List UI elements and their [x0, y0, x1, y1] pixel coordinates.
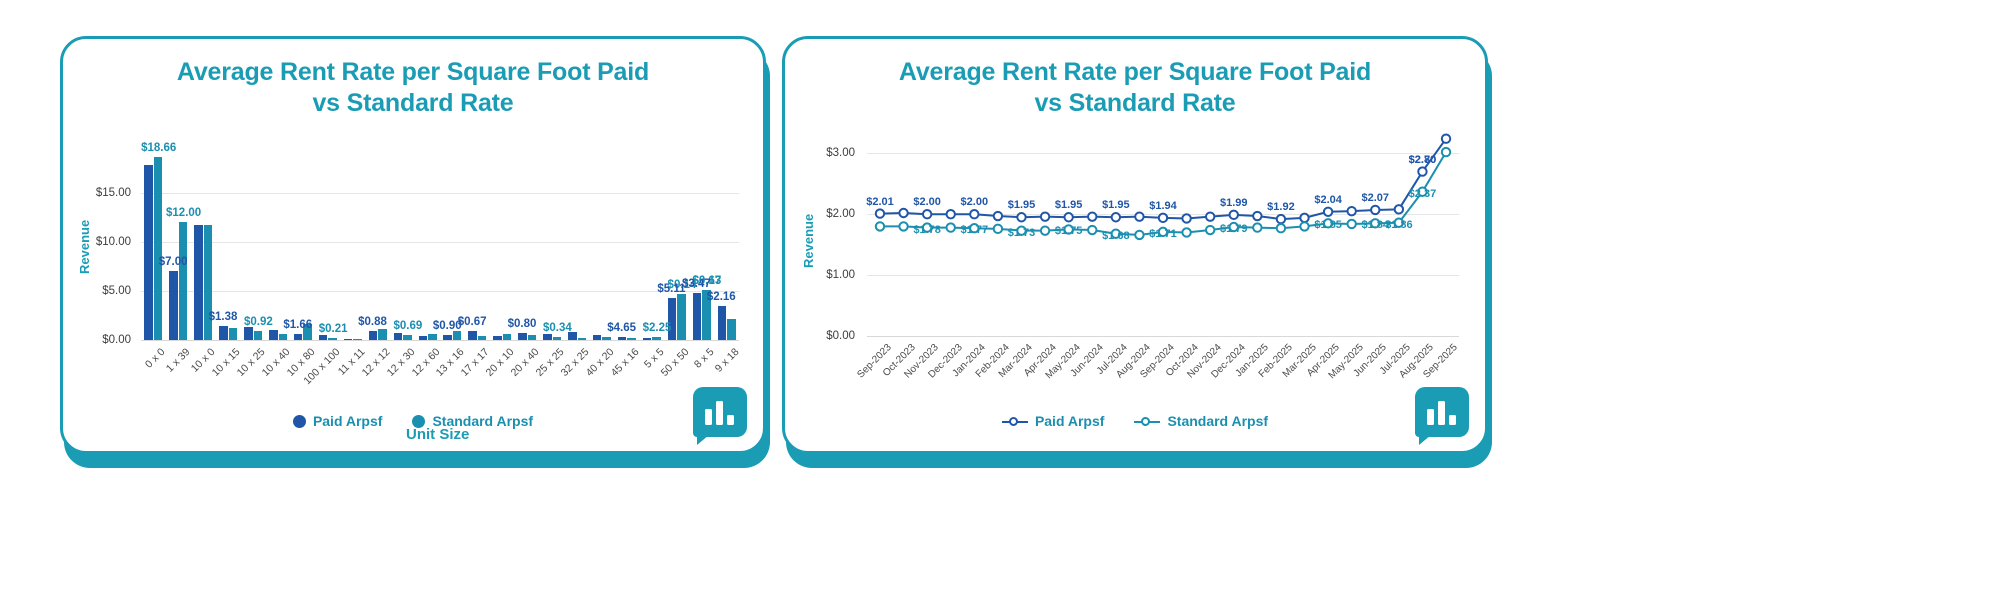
line-value-label: $2.00 — [961, 196, 989, 208]
line-point-paid[interactable] — [1230, 211, 1238, 219]
bar-standard[interactable] — [727, 319, 735, 340]
bar-standard[interactable] — [328, 338, 336, 340]
line-point-standard[interactable] — [1442, 148, 1450, 156]
line-point-paid[interactable] — [899, 209, 907, 217]
bar-chart-title-line2: vs Standard Rate — [63, 88, 763, 119]
legend-label-paid: Paid Arpsf — [313, 413, 383, 429]
bar-standard[interactable] — [353, 339, 361, 340]
bar-standard[interactable] — [229, 328, 237, 340]
line-point-paid[interactable] — [876, 209, 884, 217]
line-value-label: $1.95 — [1102, 199, 1130, 211]
line-value-label: $2.07 — [1362, 192, 1390, 204]
line-point-standard[interactable] — [994, 225, 1002, 233]
bar-paid[interactable] — [169, 271, 177, 340]
bar-standard[interactable] — [528, 335, 536, 340]
legend-line-standard-icon — [1134, 415, 1160, 428]
bar-paid[interactable] — [493, 336, 501, 340]
bar-paid[interactable] — [219, 326, 227, 340]
bar-paid[interactable] — [194, 225, 202, 340]
bar-value-label: $1.38 — [209, 311, 238, 323]
bar-standard[interactable] — [578, 338, 586, 340]
line-value-label: $1.75 — [1055, 225, 1083, 237]
line-value-label: $1.86 — [1385, 219, 1413, 231]
bar-value-label: $0.67 — [458, 316, 487, 328]
line-point-standard[interactable] — [1182, 228, 1190, 236]
line-chart-legend: Paid Arpsf Standard Arpsf — [785, 413, 1485, 429]
line-value-label: $1.68 — [1102, 230, 1130, 242]
legend-label-paid: Paid Arpsf — [1035, 413, 1105, 429]
legend-line-paid-icon — [1002, 415, 1028, 428]
legend-dot-standard-icon — [412, 415, 425, 428]
bar-chart-title-line1: Average Rent Rate per Square Foot Paid — [63, 57, 763, 88]
bar-value-label: $0.92 — [244, 316, 273, 328]
line-value-label: $2.01 — [866, 196, 894, 208]
line-point-standard[interactable] — [1206, 226, 1214, 234]
bar-gridline — [141, 242, 739, 243]
bar-standard[interactable] — [179, 222, 187, 340]
line-point-standard[interactable] — [947, 223, 955, 231]
bar-standard[interactable] — [378, 329, 386, 340]
line-point-paid[interactable] — [1088, 212, 1096, 220]
bar-plot-area: Revenue Unit Size $0.00$5.00$10.00$15.00… — [63, 118, 763, 448]
bar-paid[interactable] — [443, 335, 451, 340]
line-plot-area: Revenue $0.00$1.00$2.00$3.00$2.01$2.00$2… — [785, 118, 1485, 448]
bar-standard[interactable] — [627, 338, 635, 340]
bar-y-tick-label: $10.00 — [63, 236, 131, 248]
line-value-label: $2.80 — [1409, 154, 1437, 166]
line-point-paid[interactable] — [1347, 207, 1355, 215]
line-point-paid[interactable] — [1182, 214, 1190, 222]
bar-chart-legend: Paid Arpsf Standard Arpsf — [63, 413, 763, 429]
legend-dot-paid-icon — [293, 415, 306, 428]
line-chart-title-line1: Average Rent Rate per Square Foot Paid — [785, 57, 1485, 88]
line-point-paid[interactable] — [970, 210, 978, 218]
line-value-label: $1.73 — [1008, 227, 1036, 239]
bar-value-label: $0.21 — [319, 323, 348, 335]
line-value-label: $1.71 — [1149, 228, 1177, 240]
line-point-standard[interactable] — [1300, 222, 1308, 230]
bar-paid[interactable] — [643, 338, 651, 340]
bar-gridline — [141, 193, 739, 194]
bar-value-label: $18.66 — [141, 142, 176, 154]
bar-value-label: $4.65 — [607, 322, 636, 334]
bar-paid[interactable] — [144, 165, 152, 340]
bar-standard[interactable] — [154, 157, 162, 340]
screenshot-root: Average Rent Rate per Square Foot Paid v… — [0, 0, 2000, 593]
line-value-label: $2.04 — [1314, 194, 1342, 206]
bar-standard[interactable] — [453, 331, 461, 340]
bar-standard[interactable] — [254, 331, 262, 340]
bar-standard[interactable] — [478, 336, 486, 340]
bar-standard[interactable] — [553, 337, 561, 340]
line-point-paid[interactable] — [1135, 212, 1143, 220]
bar-standard[interactable] — [503, 334, 511, 340]
legend-item-paid[interactable]: Paid Arpsf — [293, 413, 383, 429]
line-point-paid[interactable] — [1277, 215, 1285, 223]
line-point-paid[interactable] — [1300, 214, 1308, 222]
line-point-paid[interactable] — [947, 210, 955, 218]
line-point-paid[interactable] — [1206, 212, 1214, 220]
line-value-label: $1.85 — [1314, 219, 1342, 231]
line-point-paid[interactable] — [1159, 214, 1167, 222]
line-point-paid[interactable] — [1371, 206, 1379, 214]
bar-paid[interactable] — [593, 335, 601, 340]
bar-value-label: $0.69 — [393, 320, 422, 332]
bar-paid[interactable] — [269, 330, 277, 340]
bar-paid[interactable] — [369, 331, 377, 340]
line-point-standard[interactable] — [1041, 226, 1049, 234]
line-point-standard[interactable] — [1253, 223, 1261, 231]
bar-value-label: $2.25 — [643, 322, 672, 334]
line-value-label: $1.95 — [1055, 199, 1083, 211]
line-point-paid[interactable] — [994, 212, 1002, 220]
bar-value-label: $0.80 — [508, 318, 537, 330]
line-point-paid[interactable] — [1064, 213, 1072, 221]
bar-standard[interactable] — [428, 334, 436, 340]
bar-value-label: $3.47 — [682, 278, 711, 290]
line-point-standard[interactable] — [1277, 224, 1285, 232]
line-value-label: $2.37 — [1409, 188, 1437, 200]
line-point-paid[interactable] — [1112, 213, 1120, 221]
bar-gridline — [141, 340, 739, 341]
bar-value-label: $7.00 — [159, 256, 188, 268]
bar-y-tick-label: $15.00 — [63, 187, 131, 199]
brand-logo-badge-icon — [693, 387, 747, 437]
line-value-label: $1.94 — [1149, 200, 1177, 212]
line-point-standard[interactable] — [1135, 231, 1143, 239]
line-value-label: $1.78 — [913, 224, 941, 236]
bar-value-label: $1.66 — [283, 319, 312, 331]
bar-y-tick-label: $0.00 — [63, 334, 131, 346]
line-value-label: $1.99 — [1220, 197, 1248, 209]
line-chart-title: Average Rent Rate per Square Foot Paid v… — [785, 39, 1485, 118]
bar-paid[interactable] — [518, 333, 526, 340]
bar-paid[interactable] — [693, 293, 701, 340]
line-chart-title-line2: vs Standard Rate — [785, 88, 1485, 119]
bar-standard[interactable] — [677, 294, 685, 340]
legend-item-paid[interactable]: Paid Arpsf — [1002, 413, 1105, 429]
legend-label-standard: Standard Arpsf — [1167, 413, 1268, 429]
line-point-paid[interactable] — [1324, 208, 1332, 216]
bar-paid[interactable] — [468, 331, 476, 340]
bar-value-label: $12.00 — [166, 207, 201, 219]
line-point-standard[interactable] — [1088, 226, 1096, 234]
legend-item-standard[interactable]: Standard Arpsf — [412, 413, 533, 429]
bar-paid[interactable] — [394, 333, 402, 340]
bar-paid[interactable] — [543, 334, 551, 340]
brand-logo-badge-icon — [1415, 387, 1469, 437]
bar-gridline — [141, 291, 739, 292]
legend-item-standard[interactable]: Standard Arpsf — [1134, 413, 1268, 429]
bar-paid[interactable] — [344, 339, 352, 340]
bar-paid[interactable] — [419, 336, 427, 340]
bar-standard[interactable] — [403, 335, 411, 340]
line-point-paid[interactable] — [1395, 205, 1403, 213]
line-point-paid[interactable] — [923, 210, 931, 218]
bar-paid[interactable] — [618, 337, 626, 340]
line-value-label: $1.79 — [1220, 223, 1248, 235]
bar-y-tick-label: $5.00 — [63, 285, 131, 297]
bar-chart-card: Average Rent Rate per Square Foot Paid v… — [60, 36, 766, 454]
line-value-label: $1.92 — [1267, 201, 1295, 213]
bar-value-label: $0.34 — [543, 322, 572, 334]
line-point-standard[interactable] — [876, 222, 884, 230]
bar-value-label: $0.88 — [358, 316, 387, 328]
bar-standard[interactable] — [279, 334, 287, 340]
line-point-standard[interactable] — [899, 222, 907, 230]
line-chart-card: Average Rent Rate per Square Foot Paid v… — [782, 36, 1488, 454]
line-point-paid[interactable] — [1017, 213, 1025, 221]
line-value-label: $1.95 — [1008, 199, 1036, 211]
bar-paid[interactable] — [718, 306, 726, 340]
bar-paid[interactable] — [319, 335, 327, 340]
bar-standard[interactable] — [602, 337, 610, 340]
bar-chart-title: Average Rent Rate per Square Foot Paid v… — [63, 39, 763, 118]
line-value-label: $1.77 — [961, 224, 989, 236]
line-point-paid[interactable] — [1418, 167, 1426, 175]
line-value-label: $2.00 — [913, 196, 941, 208]
bar-paid[interactable] — [294, 334, 302, 340]
line-point-paid[interactable] — [1442, 134, 1450, 142]
line-point-paid[interactable] — [1253, 212, 1261, 220]
line-point-standard[interactable] — [1347, 220, 1355, 228]
legend-label-standard: Standard Arpsf — [432, 413, 533, 429]
bar-paid[interactable] — [244, 327, 252, 340]
bar-standard[interactable] — [652, 337, 660, 340]
line-point-paid[interactable] — [1041, 212, 1049, 220]
bar-value-label: $2.16 — [707, 291, 736, 303]
